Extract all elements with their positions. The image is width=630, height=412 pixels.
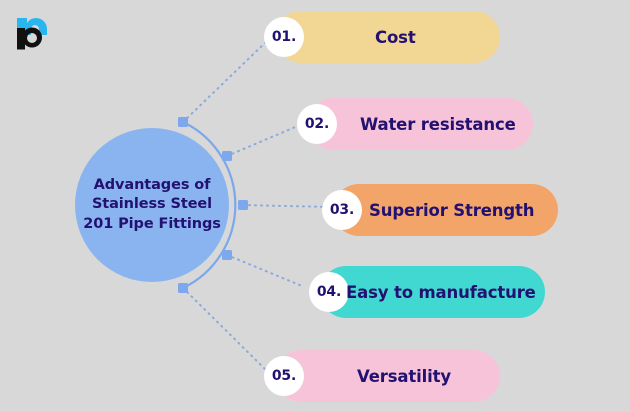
connector-line-2 (227, 125, 300, 156)
list-item[interactable]: 03. Superior Strength (333, 184, 558, 236)
item-number-badge: 03. (322, 190, 362, 230)
item-label: Water resistance (360, 98, 516, 150)
item-number-badge: 01. (264, 17, 304, 57)
item-number: 01. (272, 29, 296, 45)
item-number-badge: 02. (297, 104, 337, 144)
connector-line-3 (243, 205, 330, 207)
connector-line-4 (227, 255, 302, 286)
infographic-canvas: Advantages of Stainless Steel 201 Pipe F… (0, 0, 630, 412)
arc-node-3 (238, 200, 248, 210)
item-label: Cost (375, 11, 416, 63)
item-number-badge: 04. (309, 272, 349, 312)
arc-node-1 (178, 117, 188, 127)
item-number: 03. (330, 202, 354, 218)
center-hub: Advantages of Stainless Steel 201 Pipe F… (75, 128, 229, 282)
item-label: Versatility (357, 350, 451, 402)
arc-node-2 (222, 151, 232, 161)
arc-node-4 (222, 250, 232, 260)
arc-node-5 (178, 283, 188, 293)
list-item[interactable]: 01. Cost (275, 11, 500, 63)
center-hub-title: Advantages of Stainless Steel 201 Pipe F… (77, 176, 227, 234)
item-number: 04. (317, 284, 341, 300)
item-label: Easy to manufacture (346, 266, 536, 318)
connector-line-1 (183, 40, 268, 122)
item-number: 05. (272, 368, 296, 384)
list-item[interactable]: 04. Easy to manufacture (320, 266, 545, 318)
item-number-badge: 05. (264, 356, 304, 396)
item-label: Superior Strength (369, 184, 534, 236)
list-item[interactable]: 02. Water resistance (308, 98, 533, 150)
connector-line-5 (183, 288, 268, 372)
item-number: 02. (305, 116, 329, 132)
list-item[interactable]: 05. Versatility (275, 350, 500, 402)
